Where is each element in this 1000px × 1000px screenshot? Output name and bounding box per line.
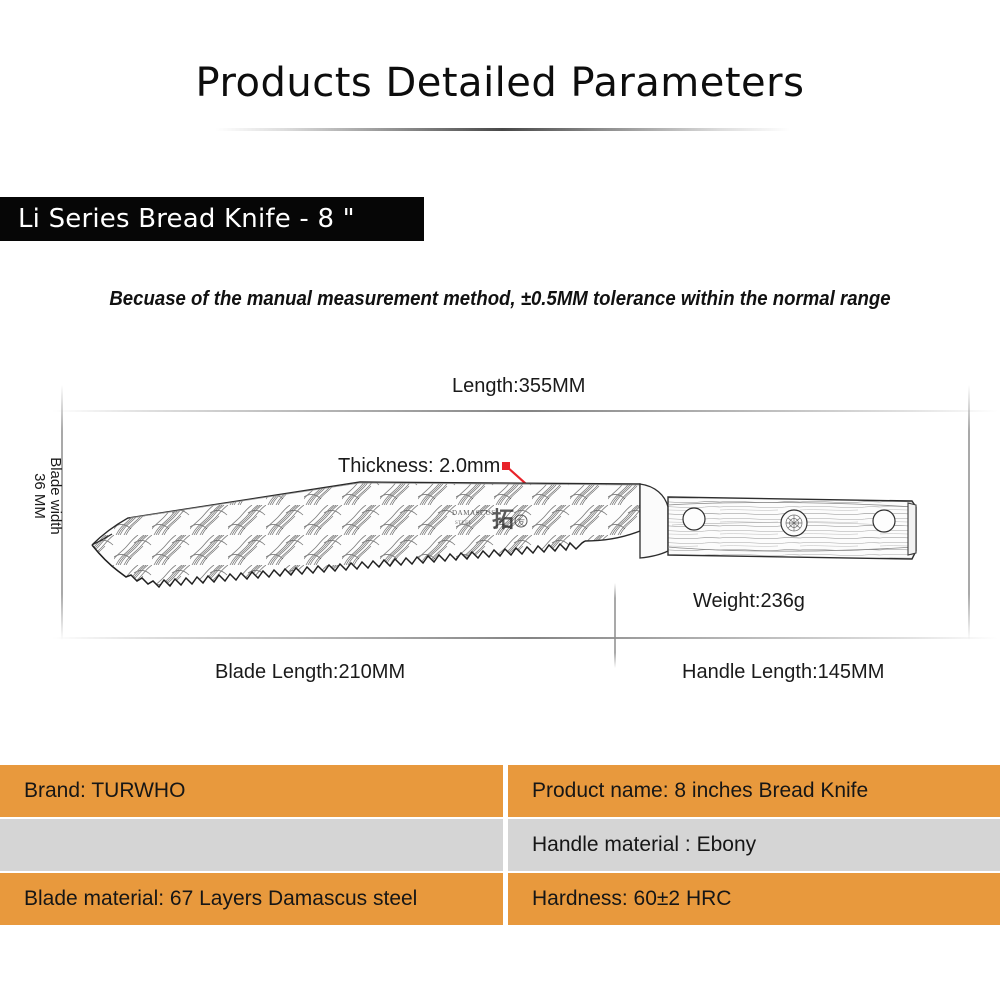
title-divider (215, 128, 790, 131)
series-banner-label: Li Series Bread Knife - 8 " (0, 204, 355, 234)
table-row: Blade material: 67 Layers Damascus steel… (0, 873, 1000, 925)
svg-text:拓: 拓 (492, 508, 514, 533)
knife-illustration: DAMASCUS STEEL 拓 友 (0, 355, 1000, 715)
table-row: Handle material : Ebony (0, 819, 1000, 871)
series-banner: Li Series Bread Knife - 8 " (0, 197, 424, 241)
page-title: Products Detailed Parameters (0, 60, 1000, 106)
svg-text:DAMASCUS: DAMASCUS (452, 509, 496, 517)
spec-cell-handle-material: Handle material : Ebony (508, 819, 1000, 871)
spec-cell-blade-material: Blade material: 67 Layers Damascus steel (0, 873, 503, 925)
spec-table: Brand: TURWHO Product name: 8 inches Bre… (0, 765, 1000, 927)
svg-text:友: 友 (517, 517, 525, 527)
spec-cell-brand: Brand: TURWHO (0, 765, 503, 817)
tolerance-note: Becuase of the manual measurement method… (35, 288, 965, 311)
svg-text:STEEL: STEEL (455, 521, 472, 526)
spec-cell-product-name: Product name: 8 inches Bread Knife (508, 765, 1000, 817)
spec-cell-hardness: Hardness: 60±2 HRC (508, 873, 1000, 925)
dimension-diagram: Length:355MM Thickness: 2.0mm Weight:236… (0, 355, 1000, 715)
table-row: Brand: TURWHO Product name: 8 inches Bre… (0, 765, 1000, 817)
spec-cell-blank (0, 819, 503, 871)
